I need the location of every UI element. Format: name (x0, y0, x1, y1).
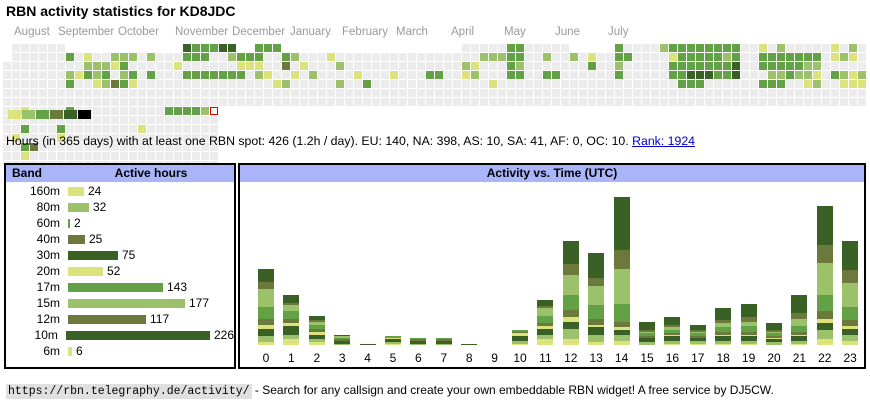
heatmap-cell[interactable] (444, 62, 452, 70)
heatmap-cell[interactable] (300, 62, 308, 70)
heatmap-cell[interactable] (354, 53, 362, 61)
heatmap-cell[interactable] (786, 53, 794, 61)
heatmap-cell[interactable] (327, 71, 335, 79)
heatmap-cell[interactable] (201, 44, 209, 52)
heatmap-cell[interactable] (552, 44, 560, 52)
heatmap-cell[interactable] (120, 152, 128, 160)
heatmap-cell[interactable] (750, 80, 758, 88)
heatmap-cell[interactable] (201, 53, 209, 61)
heatmap-cell[interactable] (129, 71, 137, 79)
heatmap-cell[interactable] (723, 44, 731, 52)
heatmap-cell[interactable] (21, 98, 29, 106)
heatmap-cell[interactable] (201, 89, 209, 97)
heatmap-cell[interactable] (768, 71, 776, 79)
heatmap-cell[interactable] (192, 53, 200, 61)
heatmap-cell[interactable] (507, 80, 515, 88)
heatmap-cell[interactable] (84, 62, 92, 70)
heatmap-cell[interactable] (102, 62, 110, 70)
heatmap-cell[interactable] (768, 62, 776, 70)
heatmap-cell[interactable] (444, 89, 452, 97)
heatmap-cell[interactable] (30, 80, 38, 88)
heatmap-cell[interactable] (858, 71, 866, 79)
heatmap-cell[interactable] (633, 98, 641, 106)
heatmap-cell[interactable] (579, 71, 587, 79)
heatmap-cell[interactable] (498, 44, 506, 52)
heatmap-cell[interactable] (39, 98, 47, 106)
hour-bar[interactable] (842, 241, 858, 345)
heatmap-cell[interactable] (129, 98, 137, 106)
heatmap-cell[interactable] (426, 80, 434, 88)
heatmap-cell[interactable] (129, 80, 137, 88)
heatmap-cell[interactable] (678, 53, 686, 61)
heatmap-cell[interactable] (669, 71, 677, 79)
heatmap-cell[interactable] (372, 62, 380, 70)
heatmap-cell[interactable] (723, 89, 731, 97)
heatmap-cell[interactable] (813, 44, 821, 52)
heatmap-cell[interactable] (705, 98, 713, 106)
heatmap-cell[interactable] (660, 44, 668, 52)
heatmap-cell[interactable] (57, 71, 65, 79)
heatmap-cell[interactable] (210, 98, 218, 106)
heatmap-cell[interactable] (48, 44, 56, 52)
heatmap-cell[interactable] (453, 53, 461, 61)
heatmap-cell[interactable] (534, 89, 542, 97)
heatmap-cell[interactable] (507, 53, 515, 61)
heatmap-cell[interactable] (579, 98, 587, 106)
heatmap-cell[interactable] (66, 53, 74, 61)
heatmap-cell[interactable] (219, 80, 227, 88)
hour-bar[interactable] (563, 241, 579, 345)
heatmap-cell[interactable] (849, 80, 857, 88)
heatmap-cell[interactable] (516, 98, 524, 106)
hour-bar[interactable] (309, 316, 325, 345)
heatmap-cell[interactable] (174, 80, 182, 88)
heatmap-cell[interactable] (219, 71, 227, 79)
hour-bar[interactable] (766, 323, 782, 345)
heatmap-cell[interactable] (858, 53, 866, 61)
heatmap-cell[interactable] (273, 98, 281, 106)
heatmap-cell[interactable] (201, 71, 209, 79)
heatmap-cell[interactable] (66, 62, 74, 70)
heatmap-cell[interactable] (552, 62, 560, 70)
heatmap-cell[interactable] (39, 152, 47, 160)
heatmap-cell[interactable] (561, 71, 569, 79)
heatmap-cell[interactable] (84, 53, 92, 61)
heatmap-cell[interactable] (714, 71, 722, 79)
heatmap-cell[interactable] (57, 44, 65, 52)
heatmap-cell[interactable] (471, 89, 479, 97)
heatmap-cell[interactable] (507, 44, 515, 52)
heatmap-cell[interactable] (714, 62, 722, 70)
heatmap-cell[interactable] (633, 44, 641, 52)
heatmap-cell[interactable] (219, 44, 227, 52)
heatmap-cell[interactable] (831, 53, 839, 61)
heatmap-cell[interactable] (696, 62, 704, 70)
heatmap-cell[interactable] (138, 125, 146, 133)
heatmap-cell[interactable] (345, 53, 353, 61)
heatmap-cell[interactable] (858, 89, 866, 97)
heatmap-cell[interactable] (822, 71, 830, 79)
heatmap-cell[interactable] (273, 62, 281, 70)
heatmap-cell[interactable] (687, 53, 695, 61)
heatmap-cell[interactable] (678, 71, 686, 79)
heatmap-cell[interactable] (93, 62, 101, 70)
heatmap-cell[interactable] (327, 62, 335, 70)
heatmap-cell[interactable] (498, 62, 506, 70)
heatmap-cell[interactable] (723, 98, 731, 106)
heatmap-cell[interactable] (84, 98, 92, 106)
heatmap-cell[interactable] (183, 152, 191, 160)
heatmap-cell[interactable] (696, 89, 704, 97)
hour-bar[interactable] (588, 253, 604, 345)
heatmap-cell[interactable] (390, 62, 398, 70)
heatmap-cell[interactable] (777, 71, 785, 79)
heatmap-cell[interactable] (399, 98, 407, 106)
heatmap-cell[interactable] (111, 125, 119, 133)
heatmap-cell[interactable] (93, 152, 101, 160)
heatmap-cell[interactable] (660, 80, 668, 88)
heatmap-cell[interactable] (741, 53, 749, 61)
heatmap-cell[interactable] (219, 89, 227, 97)
heatmap-cell[interactable] (759, 71, 767, 79)
heatmap-cell[interactable] (786, 80, 794, 88)
heatmap-cell[interactable] (273, 71, 281, 79)
heatmap-cell[interactable] (102, 89, 110, 97)
heatmap-cell[interactable] (111, 98, 119, 106)
heatmap-cell[interactable] (705, 89, 713, 97)
heatmap-cell[interactable] (21, 89, 29, 97)
heatmap-cell[interactable] (669, 89, 677, 97)
heatmap-cell[interactable] (687, 62, 695, 70)
heatmap-cell[interactable] (138, 71, 146, 79)
heatmap-cell[interactable] (390, 80, 398, 88)
heatmap-cell[interactable] (480, 62, 488, 70)
hour-bar[interactable] (690, 325, 706, 345)
heatmap-cell[interactable] (66, 89, 74, 97)
heatmap-cell[interactable] (138, 62, 146, 70)
heatmap-cell[interactable] (417, 89, 425, 97)
heatmap-cell[interactable] (444, 80, 452, 88)
heatmap-cell[interactable] (147, 80, 155, 88)
heatmap-cell[interactable] (507, 62, 515, 70)
heatmap-cell[interactable] (624, 62, 632, 70)
heatmap-cell[interactable] (624, 53, 632, 61)
heatmap-cell[interactable] (426, 71, 434, 79)
heatmap-cell[interactable] (813, 89, 821, 97)
heatmap-cell[interactable] (687, 71, 695, 79)
heatmap-cell[interactable] (84, 71, 92, 79)
heatmap-cell[interactable] (75, 152, 83, 160)
heatmap-cell[interactable] (93, 98, 101, 106)
heatmap-cell[interactable] (795, 44, 803, 52)
heatmap-cell[interactable] (255, 71, 263, 79)
heatmap-cell[interactable] (543, 62, 551, 70)
heatmap-cell[interactable] (300, 89, 308, 97)
heatmap-cell[interactable] (309, 62, 317, 70)
heatmap-cell[interactable] (3, 98, 11, 106)
heatmap-cell[interactable] (309, 98, 317, 106)
heatmap-cell[interactable] (543, 53, 551, 61)
heatmap-cell[interactable] (354, 62, 362, 70)
heatmap-cell[interactable] (768, 53, 776, 61)
heatmap-cell[interactable] (732, 89, 740, 97)
heatmap-cell[interactable] (705, 62, 713, 70)
hour-bar[interactable] (360, 344, 376, 345)
heatmap-cell[interactable] (318, 80, 326, 88)
heatmap-cell[interactable] (444, 98, 452, 106)
heatmap-cell[interactable] (129, 152, 137, 160)
heatmap-cell[interactable] (804, 80, 812, 88)
heatmap-cell[interactable] (3, 62, 11, 70)
heatmap-cell[interactable] (264, 71, 272, 79)
heatmap-cell[interactable] (732, 62, 740, 70)
heatmap-cell[interactable] (498, 53, 506, 61)
heatmap-cell[interactable] (489, 71, 497, 79)
heatmap-cell[interactable] (525, 98, 533, 106)
heatmap-cell[interactable] (345, 71, 353, 79)
heatmap-cell[interactable] (111, 62, 119, 70)
heatmap-cell[interactable] (849, 44, 857, 52)
heatmap-cell[interactable] (57, 125, 65, 133)
heatmap-cell[interactable] (363, 80, 371, 88)
heatmap-cell[interactable] (831, 62, 839, 70)
heatmap-cell[interactable] (417, 98, 425, 106)
heatmap-cell[interactable] (57, 80, 65, 88)
heatmap-cell[interactable] (786, 71, 794, 79)
heatmap-cell[interactable] (777, 62, 785, 70)
heatmap-cell[interactable] (345, 80, 353, 88)
heatmap-cell[interactable] (678, 44, 686, 52)
heatmap-cell[interactable] (336, 53, 344, 61)
hour-bar[interactable] (461, 344, 477, 345)
heatmap-cell[interactable] (237, 80, 245, 88)
heatmap-cell[interactable] (462, 62, 470, 70)
heatmap-cell[interactable] (3, 125, 11, 133)
heatmap-cell[interactable] (354, 80, 362, 88)
heatmap-cell[interactable] (210, 44, 218, 52)
heatmap-cell[interactable] (642, 62, 650, 70)
heatmap-cell[interactable] (480, 44, 488, 52)
heatmap-cell[interactable] (543, 89, 551, 97)
heatmap-cell[interactable] (705, 44, 713, 52)
heatmap-cell[interactable] (615, 71, 623, 79)
heatmap-cell[interactable] (21, 71, 29, 79)
heatmap-cell[interactable] (93, 116, 101, 124)
heatmap-cell[interactable] (786, 89, 794, 97)
heatmap-cell[interactable] (561, 80, 569, 88)
heatmap-cell[interactable] (39, 125, 47, 133)
heatmap-cell[interactable] (174, 62, 182, 70)
heatmap-cell[interactable] (615, 80, 623, 88)
heatmap-cell[interactable] (480, 71, 488, 79)
heatmap-cell[interactable] (156, 107, 164, 115)
heatmap-cell[interactable] (111, 71, 119, 79)
heatmap-cell[interactable] (642, 53, 650, 61)
heatmap-cell[interactable] (804, 53, 812, 61)
heatmap-cell[interactable] (12, 98, 20, 106)
heatmap-cell[interactable] (615, 44, 623, 52)
heatmap-cell[interactable] (741, 89, 749, 97)
heatmap-cell[interactable] (795, 89, 803, 97)
heatmap-cell[interactable] (588, 53, 596, 61)
heatmap-cell[interactable] (723, 62, 731, 70)
heatmap-cell[interactable] (192, 71, 200, 79)
heatmap-cell[interactable] (219, 53, 227, 61)
heatmap-cell[interactable] (408, 53, 416, 61)
heatmap-cell[interactable] (228, 98, 236, 106)
heatmap-cell[interactable] (93, 107, 101, 115)
heatmap-cell[interactable] (66, 71, 74, 79)
heatmap-cell[interactable] (21, 62, 29, 70)
heatmap-cell[interactable] (831, 71, 839, 79)
heatmap-cell[interactable] (813, 80, 821, 88)
heatmap-cell[interactable] (633, 89, 641, 97)
heatmap-cell[interactable] (120, 107, 128, 115)
heatmap-cell[interactable] (795, 53, 803, 61)
heatmap-cell[interactable] (75, 125, 83, 133)
heatmap-cell[interactable] (489, 80, 497, 88)
heatmap-cell[interactable] (462, 44, 470, 52)
heatmap-cell[interactable] (165, 53, 173, 61)
heatmap-cell[interactable] (822, 53, 830, 61)
heatmap-cell[interactable] (561, 62, 569, 70)
heatmap-cell[interactable] (30, 71, 38, 79)
heatmap-cell[interactable] (615, 98, 623, 106)
heatmap-cell[interactable] (606, 71, 614, 79)
heatmap-cell-today[interactable] (210, 107, 218, 115)
heatmap-cell[interactable] (633, 62, 641, 70)
heatmap-cell[interactable] (327, 89, 335, 97)
heatmap-cell[interactable] (777, 98, 785, 106)
heatmap-cell[interactable] (174, 125, 182, 133)
hour-bar[interactable] (639, 322, 655, 345)
heatmap-cell[interactable] (210, 53, 218, 61)
heatmap-cell[interactable] (849, 62, 857, 70)
heatmap-cell[interactable] (165, 71, 173, 79)
heatmap-cell[interactable] (273, 80, 281, 88)
heatmap-cell[interactable] (561, 44, 569, 52)
heatmap-cell[interactable] (759, 89, 767, 97)
heatmap-cell[interactable] (453, 80, 461, 88)
heatmap-cell[interactable] (813, 71, 821, 79)
heatmap-cell[interactable] (399, 71, 407, 79)
heatmap-cell[interactable] (147, 62, 155, 70)
heatmap-cell[interactable] (174, 98, 182, 106)
heatmap-cell[interactable] (624, 80, 632, 88)
heatmap-cell[interactable] (678, 80, 686, 88)
heatmap-cell[interactable] (723, 71, 731, 79)
heatmap-cell[interactable] (498, 80, 506, 88)
heatmap-cell[interactable] (399, 89, 407, 97)
heatmap-cell[interactable] (282, 80, 290, 88)
heatmap-cell[interactable] (435, 80, 443, 88)
heatmap-cell[interactable] (363, 53, 371, 61)
heatmap-cell[interactable] (687, 98, 695, 106)
heatmap-cell[interactable] (48, 125, 56, 133)
heatmap-cell[interactable] (435, 89, 443, 97)
heatmap-cell[interactable] (804, 98, 812, 106)
heatmap-cell[interactable] (192, 125, 200, 133)
heatmap-cell[interactable] (183, 80, 191, 88)
heatmap-cell[interactable] (687, 80, 695, 88)
heatmap-cell[interactable] (561, 53, 569, 61)
heatmap-cell[interactable] (669, 62, 677, 70)
heatmap-cell[interactable] (588, 98, 596, 106)
heatmap-cell[interactable] (489, 53, 497, 61)
heatmap-cell[interactable] (831, 98, 839, 106)
heatmap-cell[interactable] (228, 44, 236, 52)
heatmap-cell[interactable] (336, 62, 344, 70)
heatmap-cell[interactable] (552, 98, 560, 106)
heatmap-cell[interactable] (651, 44, 659, 52)
heatmap-cell[interactable] (507, 71, 515, 79)
heatmap-cell[interactable] (417, 62, 425, 70)
heatmap-cell[interactable] (831, 89, 839, 97)
heatmap-cell[interactable] (471, 62, 479, 70)
heatmap-cell[interactable] (75, 80, 83, 88)
heatmap-cell[interactable] (210, 89, 218, 97)
heatmap-cell[interactable] (12, 53, 20, 61)
heatmap-cell[interactable] (12, 62, 20, 70)
heatmap-cell[interactable] (597, 80, 605, 88)
heatmap-cell[interactable] (498, 98, 506, 106)
heatmap-cell[interactable] (3, 80, 11, 88)
heatmap-cell[interactable] (147, 98, 155, 106)
heatmap-cell[interactable] (813, 62, 821, 70)
heatmap-cell[interactable] (696, 53, 704, 61)
heatmap-cell[interactable] (39, 44, 47, 52)
heatmap-cell[interactable] (849, 89, 857, 97)
heatmap-cell[interactable] (543, 44, 551, 52)
heatmap-cell[interactable] (192, 89, 200, 97)
heatmap-cell[interactable] (777, 53, 785, 61)
heatmap-cell[interactable] (183, 125, 191, 133)
heatmap-cell[interactable] (606, 53, 614, 61)
heatmap-cell[interactable] (57, 152, 65, 160)
heatmap-cell[interactable] (48, 89, 56, 97)
heatmap-cell[interactable] (192, 80, 200, 88)
heatmap-cell[interactable] (741, 98, 749, 106)
heatmap-cell[interactable] (300, 53, 308, 61)
heatmap-cell[interactable] (192, 62, 200, 70)
heatmap-cell[interactable] (336, 98, 344, 106)
heatmap-cell[interactable] (291, 80, 299, 88)
heatmap-cell[interactable] (57, 53, 65, 61)
heatmap-cell[interactable] (642, 44, 650, 52)
hour-bar[interactable] (614, 197, 630, 345)
heatmap-cell[interactable] (408, 62, 416, 70)
heatmap-cell[interactable] (669, 98, 677, 106)
heatmap-cell[interactable] (246, 62, 254, 70)
heatmap-cell[interactable] (525, 89, 533, 97)
heatmap-cell[interactable] (291, 53, 299, 61)
hour-bar[interactable] (283, 295, 299, 345)
heatmap-cell[interactable] (822, 80, 830, 88)
heatmap-cell[interactable] (75, 98, 83, 106)
heatmap-cell[interactable] (156, 152, 164, 160)
heatmap-cell[interactable] (165, 80, 173, 88)
heatmap-cell[interactable] (750, 53, 758, 61)
heatmap-cell[interactable] (696, 71, 704, 79)
heatmap-cell[interactable] (435, 53, 443, 61)
heatmap-cell[interactable] (606, 89, 614, 97)
heatmap-cell[interactable] (678, 62, 686, 70)
heatmap-cell[interactable] (768, 44, 776, 52)
heatmap-cell[interactable] (381, 80, 389, 88)
heatmap-cell[interactable] (804, 44, 812, 52)
heatmap-cell[interactable] (291, 71, 299, 79)
activity-heatmap[interactable] (3, 44, 870, 170)
